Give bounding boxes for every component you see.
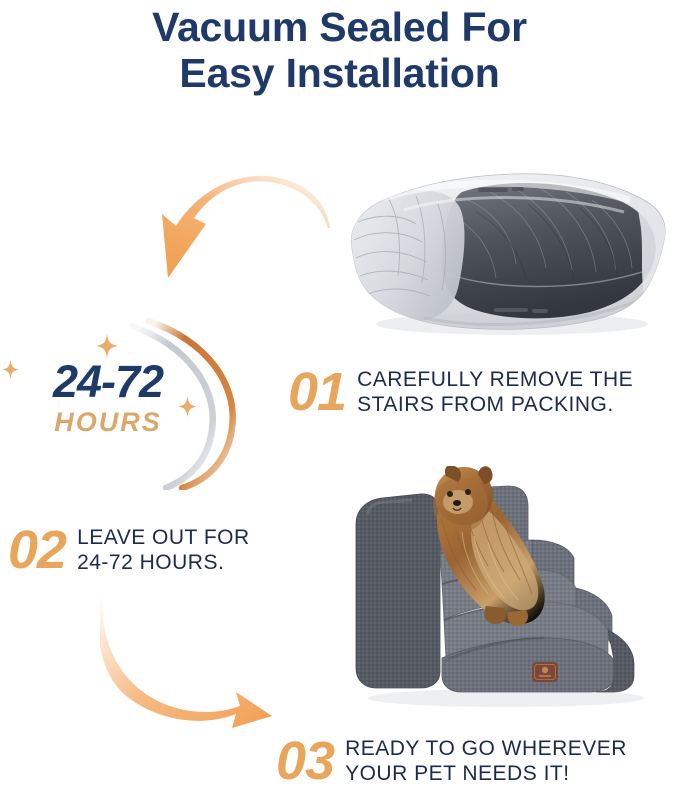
infographic-page: Vacuum Sealed For Easy Installation [0,0,679,789]
step-01-line-2: STAIRS FROM PACKING. [357,392,633,417]
step-number-03: 03 [276,733,334,789]
step-03-line-1: READY TO GO WHEREVER [345,737,627,760]
badge-unit: HOURS [18,407,198,437]
stairs-left-side [356,494,440,688]
pet-stairs-with-dog-photo [346,466,672,716]
page-title: Vacuum Sealed For Easy Installation [0,4,679,96]
package-illustration [344,152,674,342]
sparkle-star-icon [96,334,118,358]
stairs-illustration [346,466,672,716]
dog-eye-left [447,491,453,497]
step-text-02: LEAVE OUT FOR 24-72 HOURS. [77,525,250,575]
brand-logo-patch [532,662,558,682]
step-item-02: 02 LEAVE OUT FOR 24-72 HOURS. [8,522,250,578]
step-03-line-2: YOUR PET NEEDS IT! [345,761,627,786]
step-text-03: READY TO GO WHEREVER YOUR PET NEEDS IT! [345,736,627,786]
arrow-1-shape [162,176,330,278]
badge-duration: 24-72 [18,358,198,406]
step-number-01: 01 [288,364,346,420]
badge-text: 24-72 HOURS [18,358,198,437]
step-02-line-1: LEAVE OUT FOR [77,526,250,549]
step-item-03: 03 READY TO GO WHEREVER YOUR PET NEEDS I… [276,733,627,789]
step-number-02: 02 [8,522,66,578]
page-title-line-2: Easy Installation [0,50,679,96]
dog-eye-right [465,489,471,495]
step-02-line-2: 24-72 HOURS. [77,550,250,575]
step-01-line-1: CAREFULLY REMOVE THE [357,368,633,391]
sparkle-star-icon [2,360,19,379]
step-item-01: 01 CAREFULLY REMOVE THE STAIRS FROM PACK… [288,364,633,420]
curved-arrow-down-right-icon [100,588,275,728]
duration-badge: 24-72 HOURS [0,318,270,490]
vacuum-sealed-package-photo [344,152,674,342]
dog-nose [453,500,461,506]
page-title-line-1: Vacuum Sealed For [152,4,527,50]
arrow-2-shape [100,590,272,728]
curved-arrow-down-left-icon [160,168,330,293]
step-text-01: CAREFULLY REMOVE THE STAIRS FROM PACKING… [357,367,633,417]
